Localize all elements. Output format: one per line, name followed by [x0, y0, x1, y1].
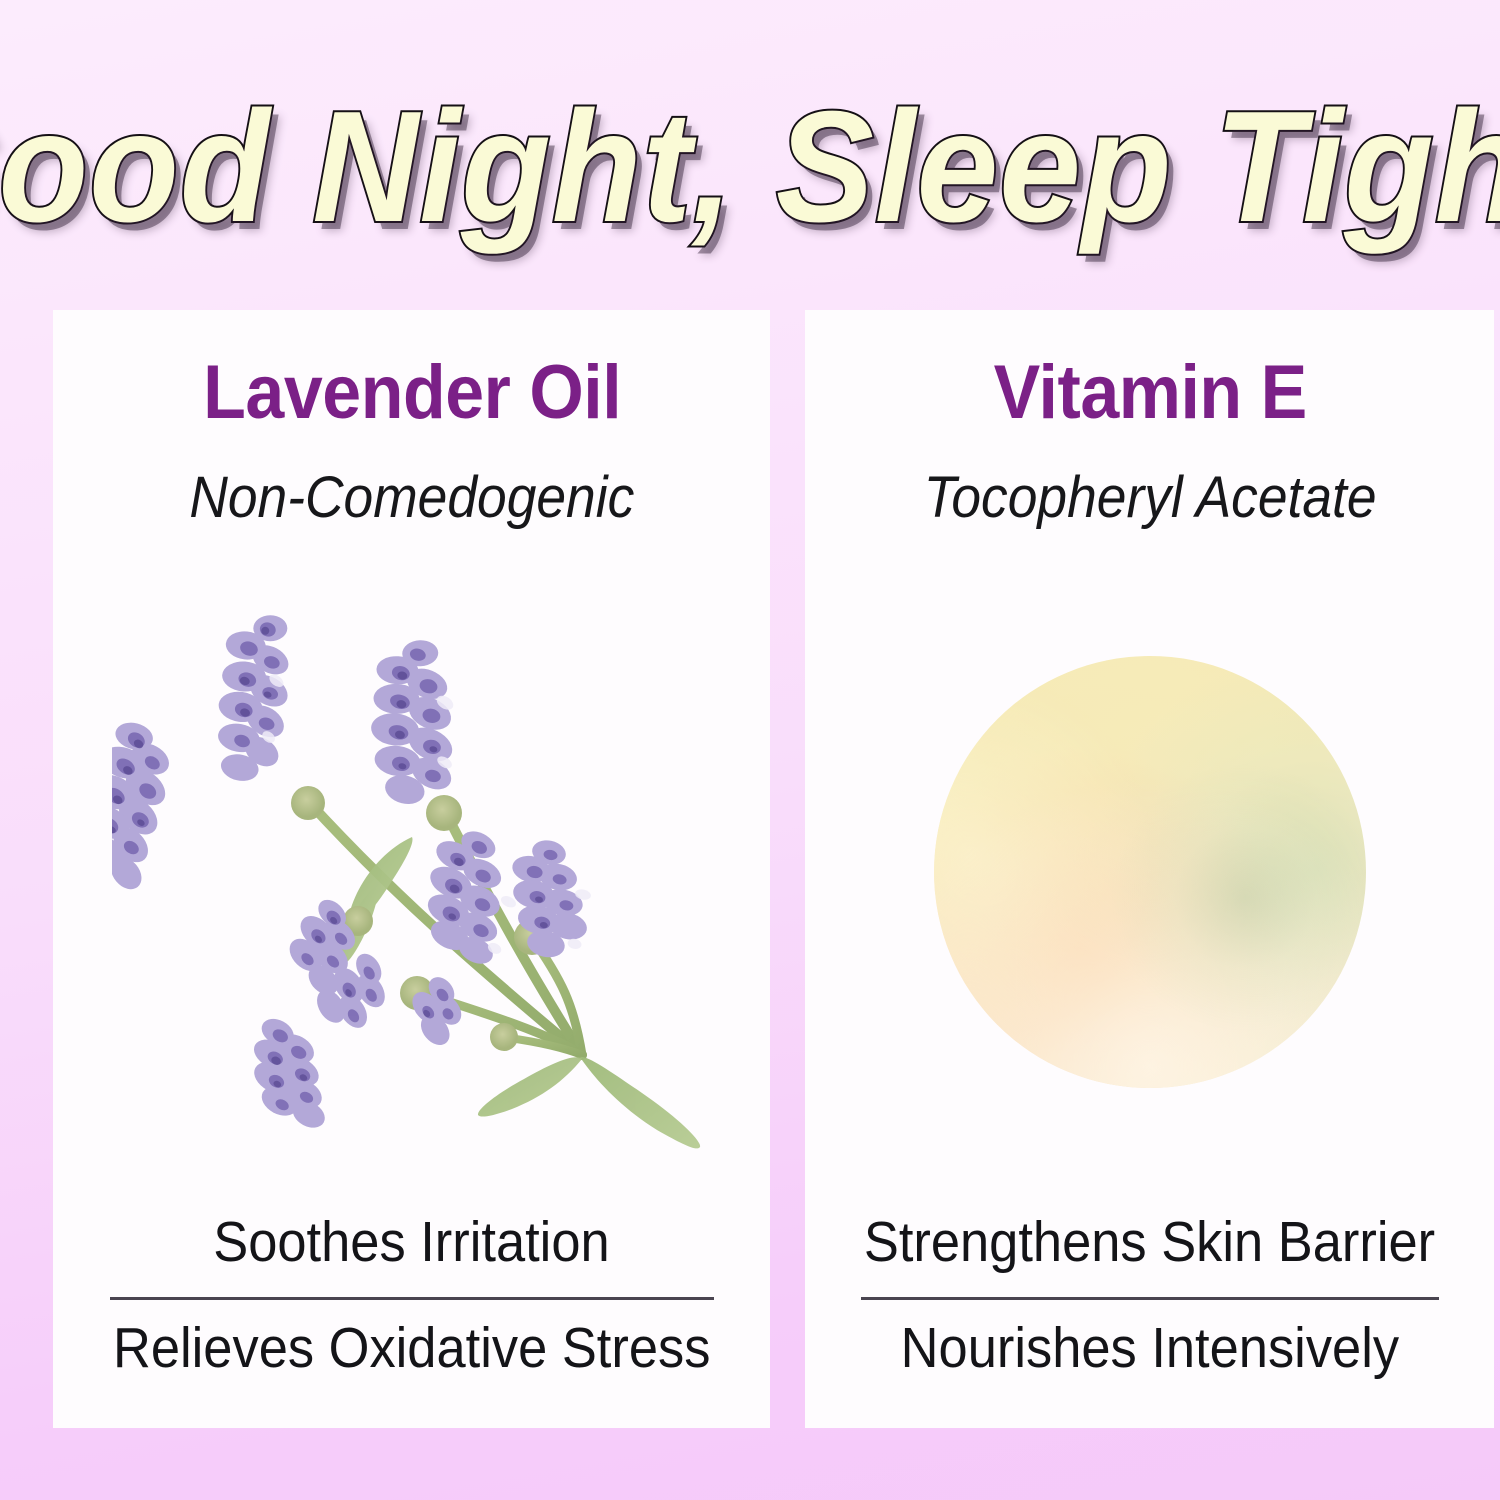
card-subtitle-vitamin-e: Tocopheryl Acetate: [923, 468, 1376, 529]
lavender-art-slot: [87, 532, 736, 1212]
benefit-item: Strengthens Skin Barrier: [864, 1212, 1435, 1274]
lavender-spike: [112, 708, 220, 899]
page-title: Good Night, Sleep Tight.: [0, 88, 1500, 246]
vitamin-e-droplet-icon: [934, 656, 1366, 1088]
lavender-spike: [183, 599, 324, 793]
card-title-vitamin-e: Vitamin E: [993, 354, 1306, 432]
poster-canvas: Good Night, Sleep Tight. Lavender Oil No…: [0, 0, 1500, 1500]
card-subtitle-lavender-oil: Non-Comedogenic: [189, 468, 634, 529]
benefit-item: Soothes Irritation: [213, 1212, 609, 1274]
ingredient-card-row: Lavender Oil Non-Comedogenic: [53, 310, 1450, 1428]
ingredient-card-vitamin-e[interactable]: Vitamin E Tocopheryl Acetate Strengthens…: [805, 310, 1494, 1428]
benefits-list-lavender-oil: Soothes Irritation Relieves Oxidative St…: [87, 1212, 736, 1398]
lavender-spike: [228, 1013, 356, 1135]
card-title-lavender-oil: Lavender Oil: [203, 354, 621, 432]
vitamin-e-art-slot: [839, 532, 1460, 1212]
benefit-divider: [861, 1297, 1439, 1300]
benefits-list-vitamin-e: Strengthens Skin Barrier Nourishes Inten…: [839, 1212, 1460, 1398]
ingredient-card-lavender-oil[interactable]: Lavender Oil Non-Comedogenic: [53, 310, 770, 1428]
headline-container: Good Night, Sleep Tight.: [0, 72, 1500, 262]
lavender-sprig-icon: [112, 585, 712, 1160]
lavender-flower-spikes: [112, 599, 603, 1136]
benefit-item: Relieves Oxidative Stress: [113, 1318, 710, 1380]
benefit-item: Nourishes Intensively: [901, 1318, 1399, 1380]
lavender-spike: [344, 626, 486, 814]
benefit-divider: [110, 1297, 714, 1300]
